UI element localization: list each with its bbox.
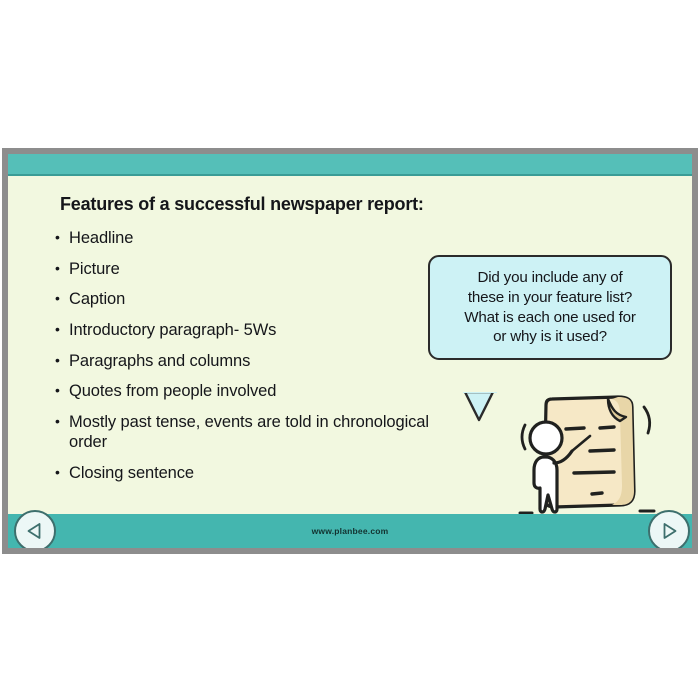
slide-content: Features of a successful newspaper repor… <box>8 176 692 514</box>
slide-header-bar <box>8 154 692 176</box>
list-item: Caption <box>54 289 434 309</box>
list-item: Headline <box>54 228 434 248</box>
slide-frame: Features of a successful newspaper repor… <box>2 148 698 554</box>
triangle-left-icon <box>25 521 45 541</box>
footer-url-label: www.planbee.com <box>312 526 389 536</box>
list-item: Closing sentence <box>54 463 434 483</box>
list-item: Mostly past tense, events are told in ch… <box>54 412 434 452</box>
previous-slide-button[interactable] <box>14 510 56 548</box>
slide-footer-bar: www.planbee.com <box>8 514 692 548</box>
next-slide-button[interactable] <box>648 510 690 548</box>
list-item: Quotes from people involved <box>54 381 434 401</box>
list-item: Introductory paragraph- 5Ws <box>54 320 434 340</box>
speech-bubble: Did you include any of these in your fea… <box>428 255 672 360</box>
speech-bubble-text: Did you include any of these in your fea… <box>440 268 660 347</box>
features-list: Headline Picture Caption Introductory pa… <box>54 228 434 493</box>
list-item: Picture <box>54 259 434 279</box>
page-title: Features of a successful newspaper repor… <box>60 194 424 215</box>
illustration-figure-with-document <box>508 391 688 526</box>
speech-bubble-tail-icon <box>463 392 497 422</box>
triangle-right-icon <box>659 521 679 541</box>
slide-viewer: Features of a successful newspaper repor… <box>0 0 700 700</box>
slide-inner: Features of a successful newspaper repor… <box>8 154 692 548</box>
list-item: Paragraphs and columns <box>54 351 434 371</box>
